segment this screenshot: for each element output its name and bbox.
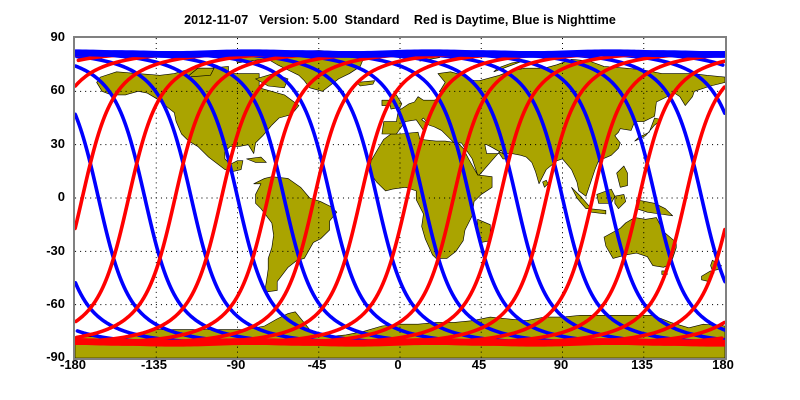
y-tick-label: 30 xyxy=(3,137,65,150)
figure-title: 2012-11-07 Version: 5.00 Standard Red is… xyxy=(0,13,800,27)
land-sulawesi xyxy=(615,194,626,208)
y-tick-label: -30 xyxy=(3,244,65,257)
y-tick-label: 0 xyxy=(3,190,65,203)
y-tick-label: 60 xyxy=(3,83,65,96)
land-cuba xyxy=(247,157,267,162)
y-tick-label: -60 xyxy=(3,297,65,310)
polar-convergence-band-south xyxy=(75,340,725,342)
map-plot-area xyxy=(73,36,727,360)
map-svg xyxy=(75,38,725,358)
map-canvas xyxy=(75,38,725,358)
land-philippines xyxy=(617,166,628,187)
ground-track-figure: 2012-11-07 Version: 5.00 Standard Red is… xyxy=(0,0,800,400)
polar-convergence-band-north xyxy=(75,51,725,53)
land-java xyxy=(590,209,606,214)
y-tick-label: 90 xyxy=(3,30,65,43)
